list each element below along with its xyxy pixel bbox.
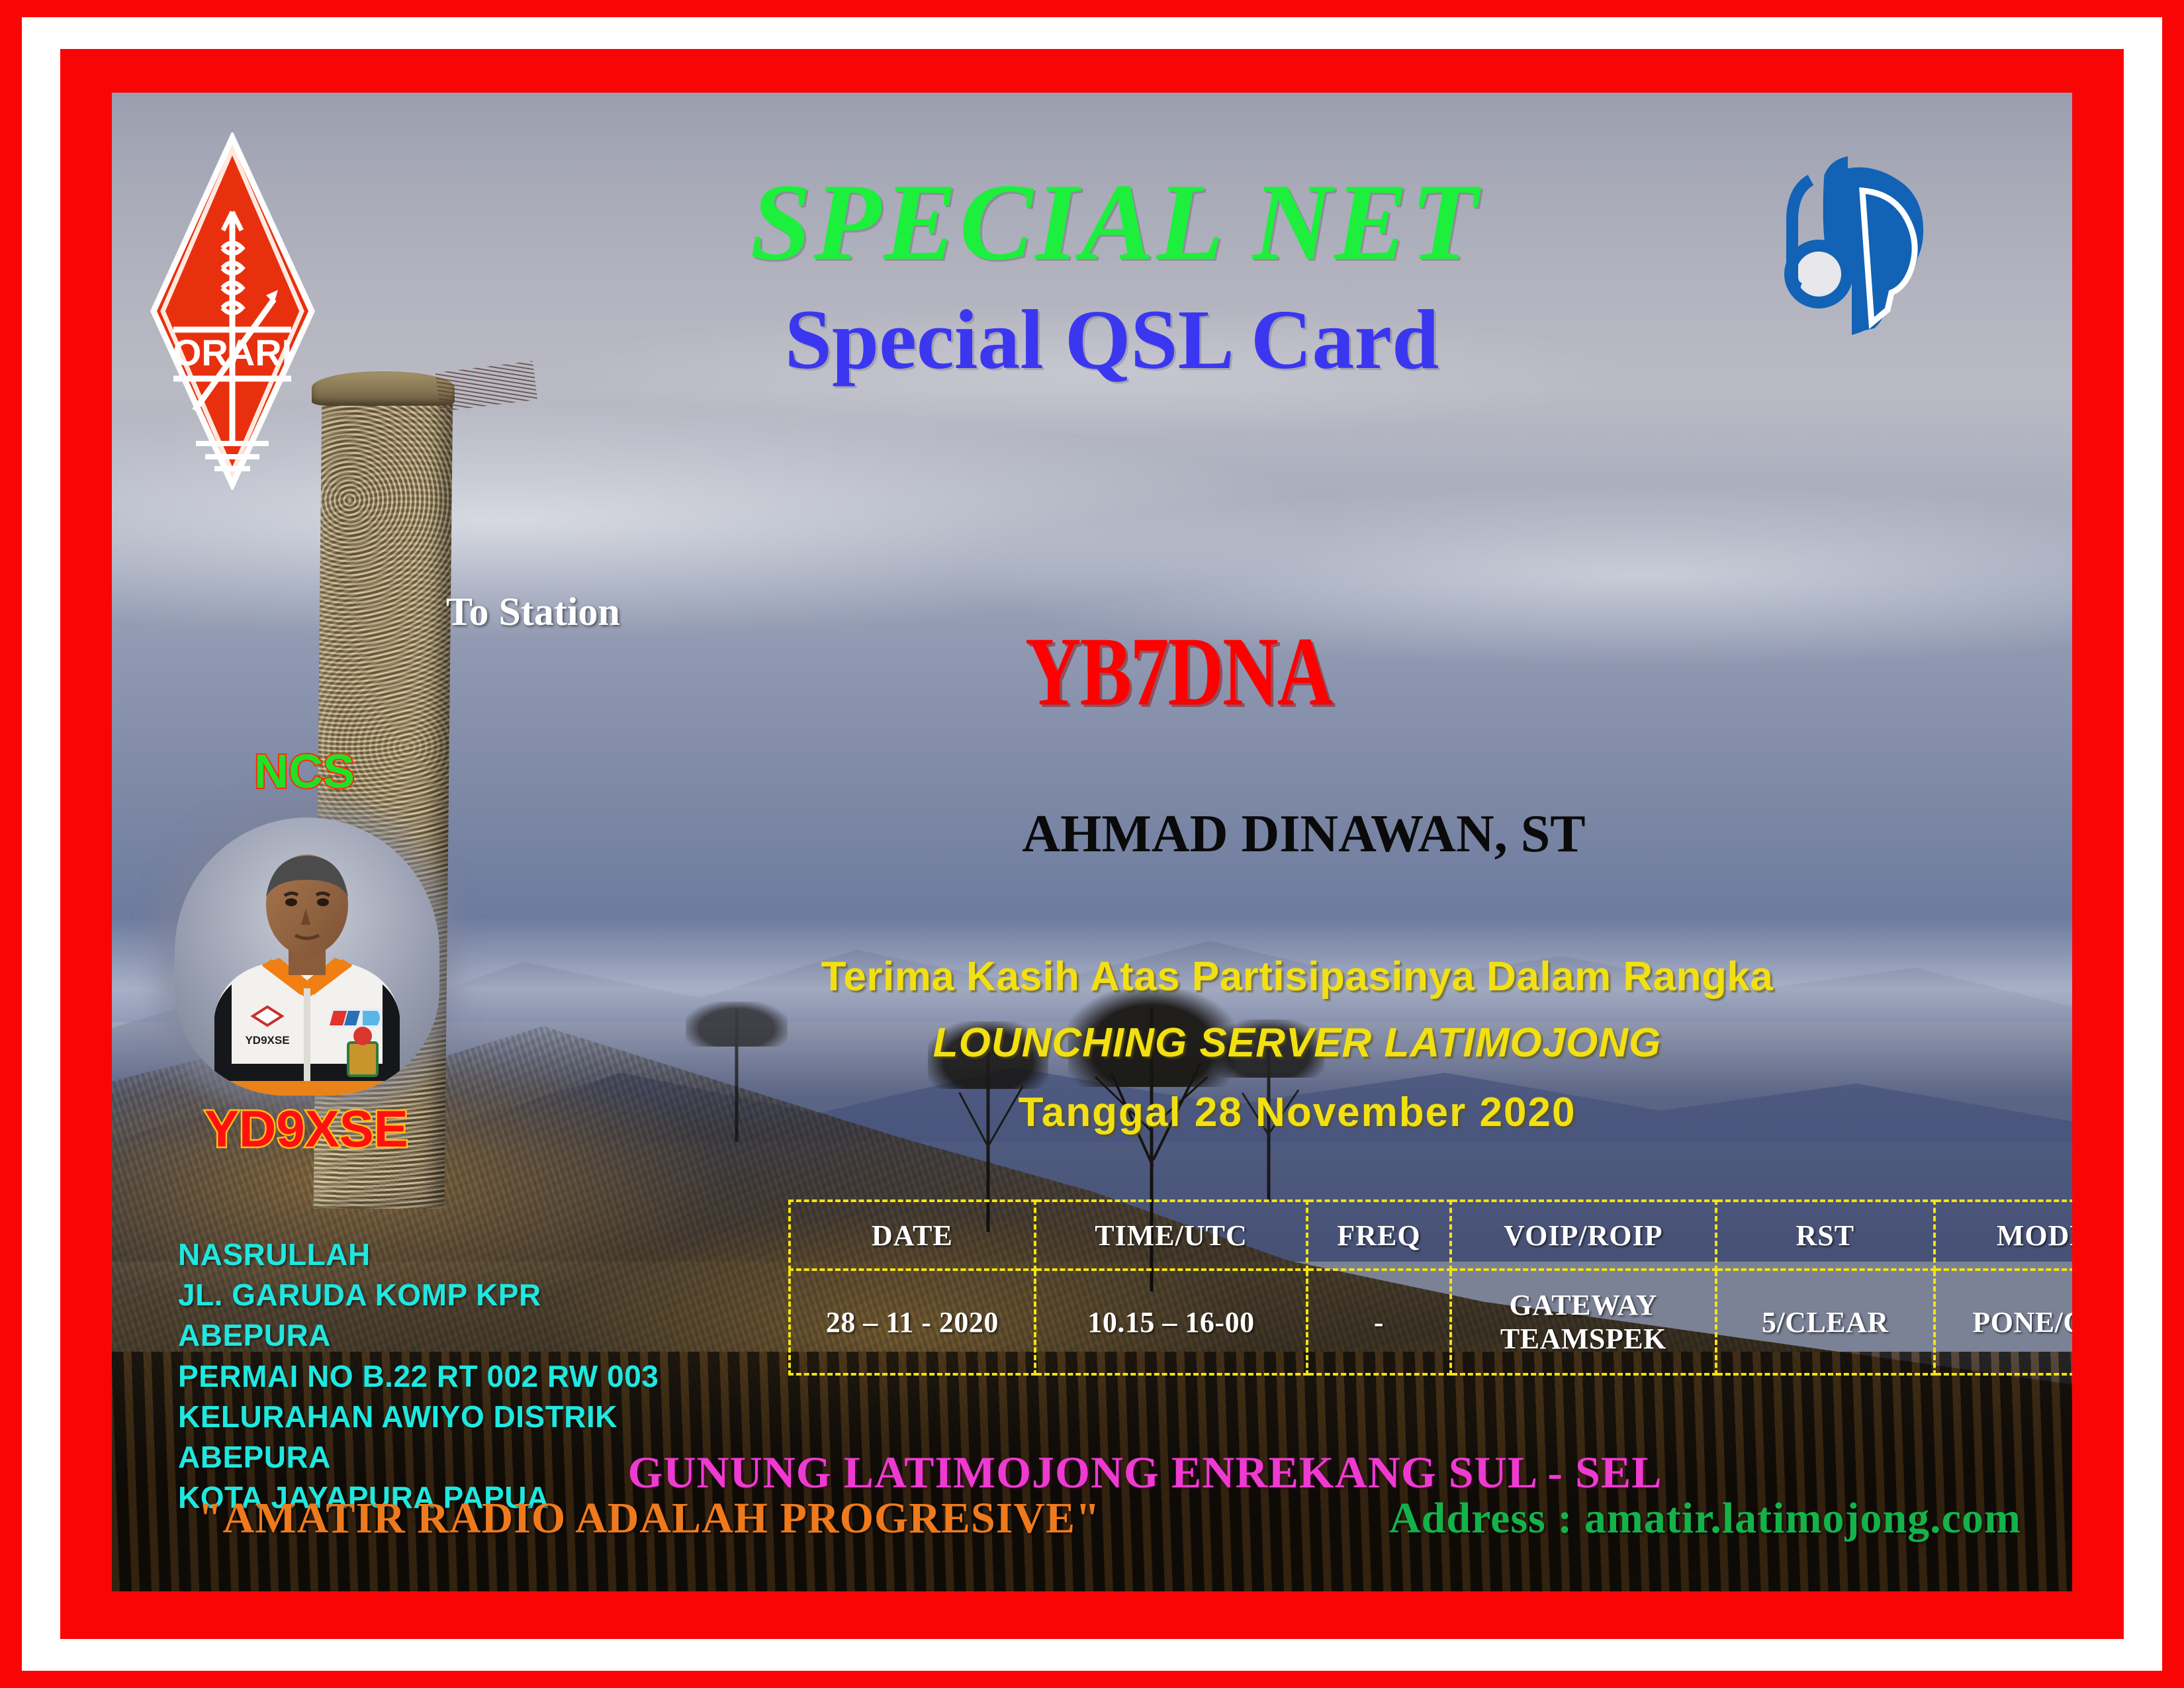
qso-log-table: DATE TIME/UTC FREQ VOIP/ROIP RST MODE 28… (788, 1199, 2072, 1376)
column-header-voip: VOIP/ROIP (1451, 1201, 1717, 1270)
frame-white-gap: ORARI (22, 17, 2162, 1671)
address-line: KELURAHAN AWIYO DISTRIK (178, 1397, 659, 1437)
frame-red-inner: ORARI (60, 49, 2124, 1639)
background-photo: ORARI (112, 93, 2072, 1591)
cell-voip-line1: GATEWAY (1452, 1288, 1715, 1322)
operator-name: AHMAD DINAWAN, ST (112, 804, 2072, 865)
page-subtitle: Special QSL Card (112, 291, 2072, 389)
web-address-text: Address : amatir.latimojong.com (1389, 1493, 2021, 1544)
address-line: PERMAI NO B.22 RT 002 RW 003 (178, 1356, 659, 1397)
column-header-freq: FREQ (1307, 1201, 1450, 1270)
address-line: JL. GARUDA KOMP KPR (178, 1275, 659, 1315)
ncs-callsign: YD9XSE (205, 1099, 408, 1159)
cell-time: 10.15 – 16-00 (1035, 1270, 1308, 1374)
station-callsign: YB7DNA (1025, 616, 1332, 729)
address-line: ABEPURA (178, 1315, 659, 1356)
ncs-label: NCS (254, 745, 355, 799)
column-header-date: DATE (790, 1201, 1035, 1270)
ncs-operator-photo: YD9XSE (175, 818, 439, 1096)
to-station-label: To Station (446, 589, 620, 635)
column-header-time: TIME/UTC (1035, 1201, 1308, 1270)
cell-voip: GATEWAY TEAMSPEK (1451, 1270, 1717, 1374)
qsl-card-frame: ORARI (0, 0, 2184, 1688)
slogan-text: "AMATIR RADIO ADALAH PROGRESIVE" (198, 1493, 1101, 1544)
address-line: NASRULLAH (178, 1235, 659, 1275)
column-header-rst: RST (1716, 1201, 1934, 1270)
table-row: 28 – 11 - 2020 10.15 – 16-00 - GATEWAY T… (790, 1270, 2072, 1374)
location-line: GUNUNG LATIMOJONG ENREKANG SUL - SEL (112, 1446, 2072, 1499)
page-title: SPECIAL NET (112, 159, 2072, 285)
cell-date: 28 – 11 - 2020 (790, 1270, 1035, 1374)
cell-freq: - (1307, 1270, 1450, 1374)
uniform-callsign-patch: YD9XSE (245, 1034, 289, 1047)
cell-mode: PONE/CW (1934, 1270, 2072, 1374)
column-header-mode: MODE (1934, 1201, 2072, 1270)
table-header-row: DATE TIME/UTC FREQ VOIP/ROIP RST MODE (790, 1201, 2072, 1270)
cell-rst: 5/CLEAR (1716, 1270, 1934, 1374)
cell-voip-line2: TEAMSPEK (1452, 1322, 1715, 1356)
